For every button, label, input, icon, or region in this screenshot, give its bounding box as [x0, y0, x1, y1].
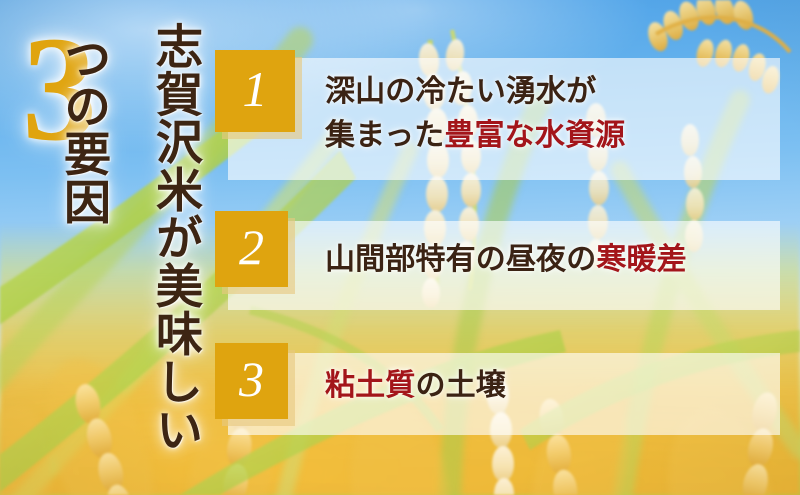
item-text-highlight: 寒暖差	[596, 243, 686, 276]
item-text-line1: 山間部特有の昼夜の	[325, 243, 596, 276]
item-text-highlight: 豊富な水資源	[444, 119, 625, 152]
item-number-badge: 1	[215, 50, 295, 132]
item-number-badge: 3	[215, 343, 288, 419]
item-text-highlight: 粘土質	[325, 369, 415, 402]
item-text-line2-plain: 集まった	[325, 119, 444, 152]
promo-banner: 3 つの要因 志賀沢米が美味しい 1 深山の冷たい湧水が集まった豊富な水資源 2…	[0, 0, 800, 495]
item-text: 深山の冷たい湧水が集まった豊富な水資源	[325, 70, 765, 158]
item-number-badge: 2	[215, 211, 288, 287]
item-text-line1: 深山の冷たい湧水が	[325, 75, 596, 108]
item-text-line1: の土壌	[415, 369, 505, 402]
item-text: 粘土質の土壌	[325, 366, 775, 407]
item-text: 山間部特有の昼夜の寒暖差	[325, 240, 775, 281]
